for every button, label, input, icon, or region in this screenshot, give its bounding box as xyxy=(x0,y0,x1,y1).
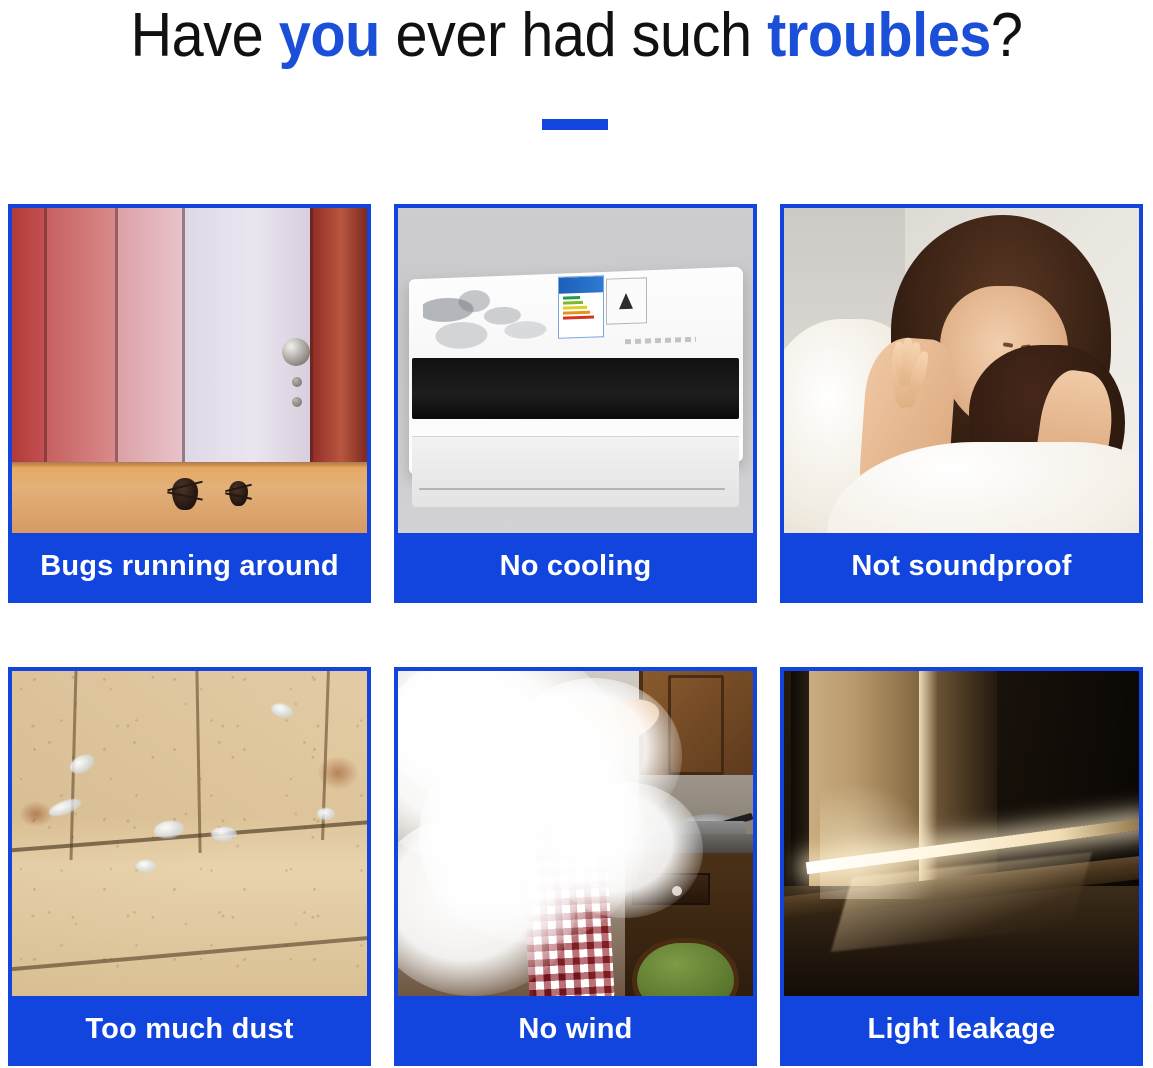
headline-accent-you: you xyxy=(279,1,380,70)
photo-woman-covering-ears xyxy=(784,208,1139,533)
tile-caption: Bugs running around xyxy=(12,533,367,599)
bug-icon xyxy=(172,478,198,510)
door-panel xyxy=(182,208,310,462)
tile-no-cooling[interactable]: No cooling xyxy=(394,204,757,603)
tile-caption: No wind xyxy=(398,996,753,1062)
headline-part-2: ever had such xyxy=(380,1,767,70)
ac-floral-pattern xyxy=(423,287,551,356)
door-knob-icon xyxy=(282,338,310,366)
energy-label-sticker xyxy=(558,275,604,338)
door-seam xyxy=(182,208,185,462)
door-panel xyxy=(310,208,367,462)
tile-too-much-dust[interactable]: Too much dust xyxy=(8,667,371,1066)
dust-clump xyxy=(136,860,156,872)
photo-red-door-with-bugs xyxy=(12,208,367,533)
tile-bugs-running-around[interactable]: Bugs running around xyxy=(8,204,371,603)
trouble-tile-grid: Bugs running around xyxy=(8,204,1144,1064)
photo-air-conditioner xyxy=(398,208,753,533)
smoke-cloud xyxy=(547,782,703,919)
tile-not-soundproof[interactable]: Not soundproof xyxy=(780,204,1143,603)
tile-caption: Not soundproof xyxy=(784,533,1139,599)
tile-no-wind[interactable]: No wind xyxy=(394,667,757,1066)
ac-air-vent xyxy=(412,358,739,420)
dust-clump xyxy=(211,827,237,841)
ac-panel-seam xyxy=(419,488,724,490)
promo-page: Have you ever had such troubles? xyxy=(0,0,1153,1068)
bug-icon xyxy=(229,481,248,506)
floor-stain xyxy=(19,801,53,827)
door-panel xyxy=(44,208,115,462)
photo-dusty-floor xyxy=(12,671,367,996)
tile-light-leakage[interactable]: Light leakage xyxy=(780,667,1143,1066)
ac-front-panel xyxy=(412,436,739,508)
door-seam xyxy=(310,208,313,462)
tile-caption: Too much dust xyxy=(12,996,367,1062)
door-seam xyxy=(115,208,118,462)
door-panel xyxy=(115,208,182,462)
certification-sticker xyxy=(606,277,647,324)
headline-part-3: ? xyxy=(991,1,1023,70)
tile-caption: No cooling xyxy=(398,533,753,599)
door-jamb xyxy=(791,671,809,912)
door-panel xyxy=(12,208,44,462)
tile-caption: Light leakage xyxy=(784,996,1139,1062)
page-title: Have you ever had such troubles? xyxy=(40,0,1112,74)
divider-bar xyxy=(542,119,608,130)
eye xyxy=(1003,342,1014,348)
photo-smoky-kitchen xyxy=(398,671,753,996)
certification-mark-icon xyxy=(619,292,633,308)
door-seam xyxy=(44,208,47,462)
dust-clump xyxy=(317,808,335,820)
light-glow xyxy=(820,782,941,899)
headline-accent-troubles: troubles xyxy=(767,1,991,70)
headline-part-1: Have xyxy=(130,1,278,70)
photo-light-under-door xyxy=(784,671,1139,996)
door-lock-icon xyxy=(292,397,302,407)
